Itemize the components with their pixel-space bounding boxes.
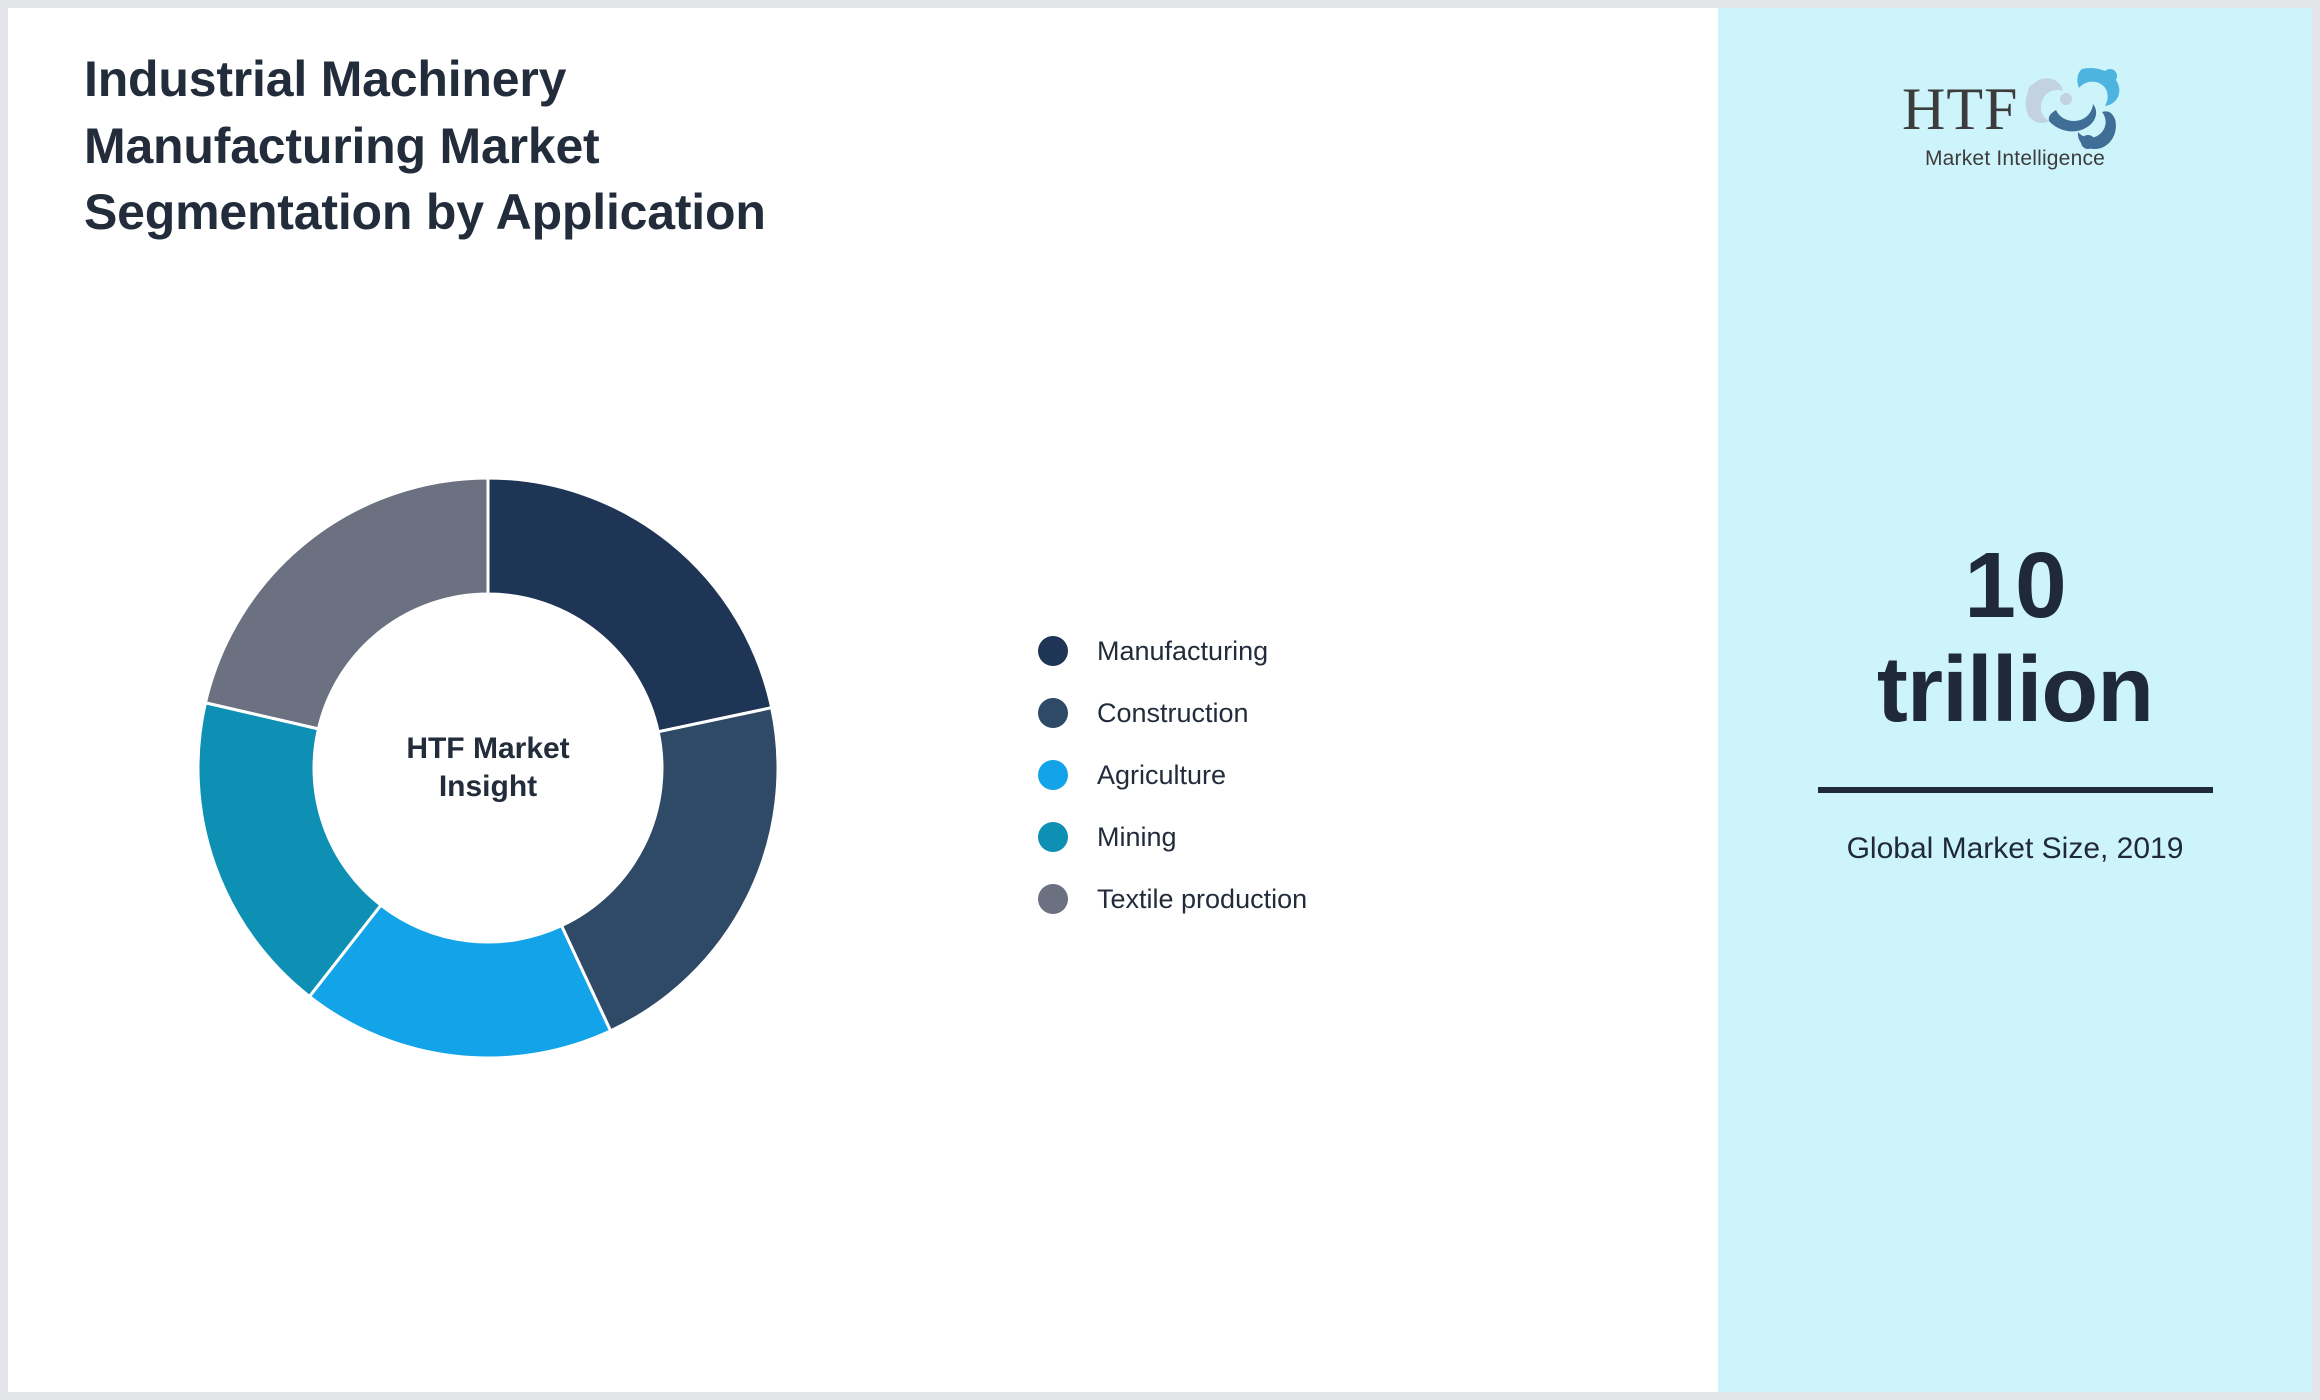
legend-item-mining[interactable]: Mining — [1038, 806, 1598, 868]
stat-caption: Global Market Size, 2019 — [1760, 829, 2270, 870]
donut-chart-svg — [188, 468, 788, 1068]
chart-legend: ManufacturingConstructionAgricultureMini… — [1038, 620, 1598, 930]
legend-swatch-icon — [1038, 760, 1068, 790]
logo-wordmark: HTF — [1902, 79, 2018, 139]
legend-item-label: Construction — [1097, 698, 1249, 729]
legend-item-construction[interactable]: Construction — [1038, 682, 1598, 744]
htf-market-intelligence-logo: HTF Market Intelligence — [1900, 63, 2130, 178]
donut-slice-textile-production[interactable] — [205, 478, 488, 729]
legend-item-label: Textile production — [1097, 884, 1307, 915]
stat-side-panel: HTF Market Intelligence — [1718, 8, 2312, 1392]
legend-swatch-icon — [1038, 822, 1068, 852]
stat-block: 10 trillion Global Market Size, 2019 — [1760, 533, 2270, 870]
legend-swatch-icon — [1038, 698, 1068, 728]
legend-swatch-icon — [1038, 884, 1068, 914]
legend-swatch-icon — [1038, 636, 1068, 666]
legend-item-textile-production[interactable]: Textile production — [1038, 868, 1598, 930]
donut-slice-construction[interactable] — [562, 708, 778, 1031]
donut-slice-group — [198, 478, 778, 1058]
infographic-root: Industrial Machinery Manufacturing Marke… — [0, 0, 2320, 1400]
legend-item-label: Manufacturing — [1097, 636, 1268, 667]
donut-chart: HTF Market Insight — [188, 468, 788, 1068]
legend-item-label: Mining — [1097, 822, 1177, 853]
logo-tagline: Market Intelligence — [1902, 147, 2128, 171]
stat-divider — [1818, 787, 2213, 793]
donut-slice-manufacturing[interactable] — [488, 478, 772, 732]
page-title: Industrial Machinery Manufacturing Marke… — [84, 46, 1084, 246]
legend-item-manufacturing[interactable]: Manufacturing — [1038, 620, 1598, 682]
stat-value: 10 trillion — [1760, 533, 2270, 741]
infographic-canvas: Industrial Machinery Manufacturing Marke… — [8, 8, 2312, 1392]
main-content-panel: Industrial Machinery Manufacturing Marke… — [8, 8, 1718, 1392]
logo-container: HTF Market Intelligence — [1718, 63, 2312, 178]
legend-item-agriculture[interactable]: Agriculture — [1038, 744, 1598, 806]
htf-triskelion-icon — [2020, 63, 2128, 149]
legend-item-label: Agriculture — [1097, 760, 1226, 791]
